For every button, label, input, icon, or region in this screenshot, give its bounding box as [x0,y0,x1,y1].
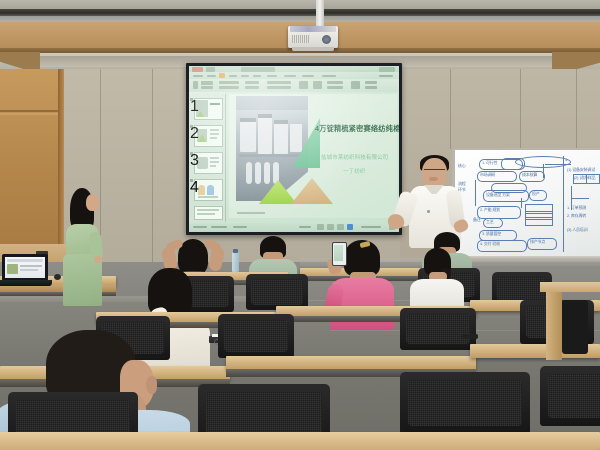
status-slide-number [193,226,207,228]
presenter-shirt-logo [427,210,430,213]
wb-right-4: 1. 订单预测 [567,206,586,210]
slide-subtitle: 盐城市某纺织科技有限公司 [321,154,397,162]
wall-seam-2 [152,69,153,269]
wb-node-1-label: 1. 可行性 [482,161,497,165]
slide-triangle-tan [291,178,333,204]
chair-right-edge[interactable] [562,300,588,354]
slide-title: 4万锭精梳紧密赛络纺纯棉纱线项目 [315,124,395,133]
status-language [233,226,247,228]
projector-vent [292,35,310,43]
view-reading-button[interactable] [337,224,344,230]
ribbon-tab-view[interactable] [302,75,314,77]
ribbon-tab-review[interactable] [284,75,296,77]
desk-row-3b [226,356,476,370]
ribbon-shape-styles[interactable] [267,86,291,89]
wb-right-branch [571,198,589,199]
wb-node-10 [525,217,553,226]
wb-node-7-label: 2. 产能 规划 [480,208,500,212]
wall-seam-3 [450,69,451,149]
ribbon-tab-animations[interactable] [253,75,261,77]
ribbon-shape-gallery[interactable] [267,81,291,84]
ribbon-tab-home[interactable] [193,75,203,77]
ribbon-paragraph-icons[interactable] [245,81,259,84]
wb-node-3-label: 成本核算 [522,173,537,177]
projector-mount-pole [316,0,324,28]
wb-node-6-label: 投产 [532,192,540,196]
wb-right-3: (2) 试纺/样品 [574,176,595,180]
ribbon-tab-slideshow[interactable] [267,75,277,77]
slide-presenter-line: 一丁纺织 [343,167,365,175]
wb-node-11-label: 工艺 [486,220,494,224]
ribbon-extra-icon[interactable] [365,86,377,89]
zoom-slider[interactable] [361,226,381,228]
view-slideshow-button[interactable] [347,224,353,230]
view-sorter-button[interactable] [327,224,334,230]
laptop-text-line-1 [20,265,42,267]
wall-seam-4 [520,69,521,149]
wb-connector-3 [475,180,476,206]
ribbon-arrange-icon[interactable] [299,81,308,89]
wood-column-seam-1 [0,110,64,112]
ribbon-layout-icon[interactable] [201,86,213,89]
ribbon-tab-insert[interactable] [207,75,216,77]
wb-divider [563,156,564,252]
wood-column-seam-2 [0,113,64,115]
water-bottle-cap [233,249,238,253]
presenter-glasses-icon [424,169,445,175]
ribbon-quickstyles-icon[interactable] [313,81,322,89]
laptop-content-image [7,264,18,274]
laptop-browser-bar [7,259,43,262]
status-theme-name [211,226,227,228]
presenter-mouth [429,177,438,181]
ribbon-designer-icon[interactable] [365,81,377,84]
factory-photo [236,96,308,201]
projection-screen: 1 2 3 4 [189,66,399,232]
wb-node-2-label: 市场调研 [480,173,495,177]
slide-thumbnail-panel[interactable]: 1 2 3 4 [189,94,226,222]
wb-connector-4 [521,198,522,208]
desk-leg-right [546,286,562,360]
ribbon-fontsize-box[interactable] [219,86,239,89]
ribbon-share-button[interactable] [379,75,393,77]
ribbon-highlight-icon[interactable] [219,73,225,78]
wb-lasso-oval [515,156,571,168]
ribbon-tab-transitions[interactable] [241,75,249,77]
wood-wall-column [0,69,64,244]
ribbon-font-box[interactable] [219,81,239,84]
slide-photo-caption [237,212,265,214]
smartphone-screen [334,245,343,261]
wb-right-6: (3) 人员培训 [567,228,587,232]
wb-node-12-label: 3. 质量管控 [482,232,501,236]
wb-node-13-label: 4. 交付 验收 [480,242,500,246]
laptop-text-line-2 [20,269,38,271]
water-bottle[interactable] [232,252,239,272]
view-normal-button[interactable] [317,224,324,230]
wb-node-5-label: 设备选型 方案 [486,193,510,197]
laptop-base[interactable] [0,280,52,286]
desk-top-right [540,282,600,292]
ribbon-dictate-icon[interactable] [351,81,360,89]
assistant-head [86,194,99,211]
projector-top-label [290,26,336,32]
ribbon-replace-box[interactable] [327,86,343,89]
ceiling-band-upper [0,0,600,9]
ceiling-shadow-band [0,9,600,16]
projector-base [292,47,334,51]
ribbon-paste-icon[interactable] [193,81,198,89]
wb-right-5: 2. 库存周转 [567,214,586,218]
status-notes-button[interactable] [299,226,311,228]
person-standing-assistant [62,188,106,306]
active-slide[interactable]: 4万锭精梳紧密赛络纺纯棉纱线项目 盐城市某纺织科技有限公司 一丁纺织 豆 [229,94,397,218]
whiteboard[interactable]: 核心 流程 环节 备注 1. 可行性 市场调研 成本核算 设备选型 方案 投产 … [455,150,600,256]
wb-right-2: (1) 设备安装调试 [567,168,595,172]
chair-front-3[interactable] [400,372,530,434]
projector-lens [322,35,331,44]
chair-middle-2[interactable] [218,314,294,358]
computer-mouse[interactable] [54,274,61,280]
wb-node-14-label: 排产节点 [530,240,545,244]
chair-upper-2[interactable] [246,274,308,310]
assistant-hand [94,256,102,263]
classroom-photo: 1 2 3 4 [0,0,600,450]
ribbon-find-box[interactable] [327,81,343,84]
blue-shirt-ear [146,376,157,394]
ribbon-align-icons[interactable] [245,86,259,89]
ribbon-newslide-icon[interactable] [201,81,213,85]
chair-middle-3[interactable] [400,308,476,350]
chair-front-4[interactable] [540,366,600,426]
ribbon-tab-design[interactable] [229,75,237,77]
ribbon-tab-help[interactable] [322,75,336,77]
slide-thumbnail-5[interactable] [194,206,223,220]
